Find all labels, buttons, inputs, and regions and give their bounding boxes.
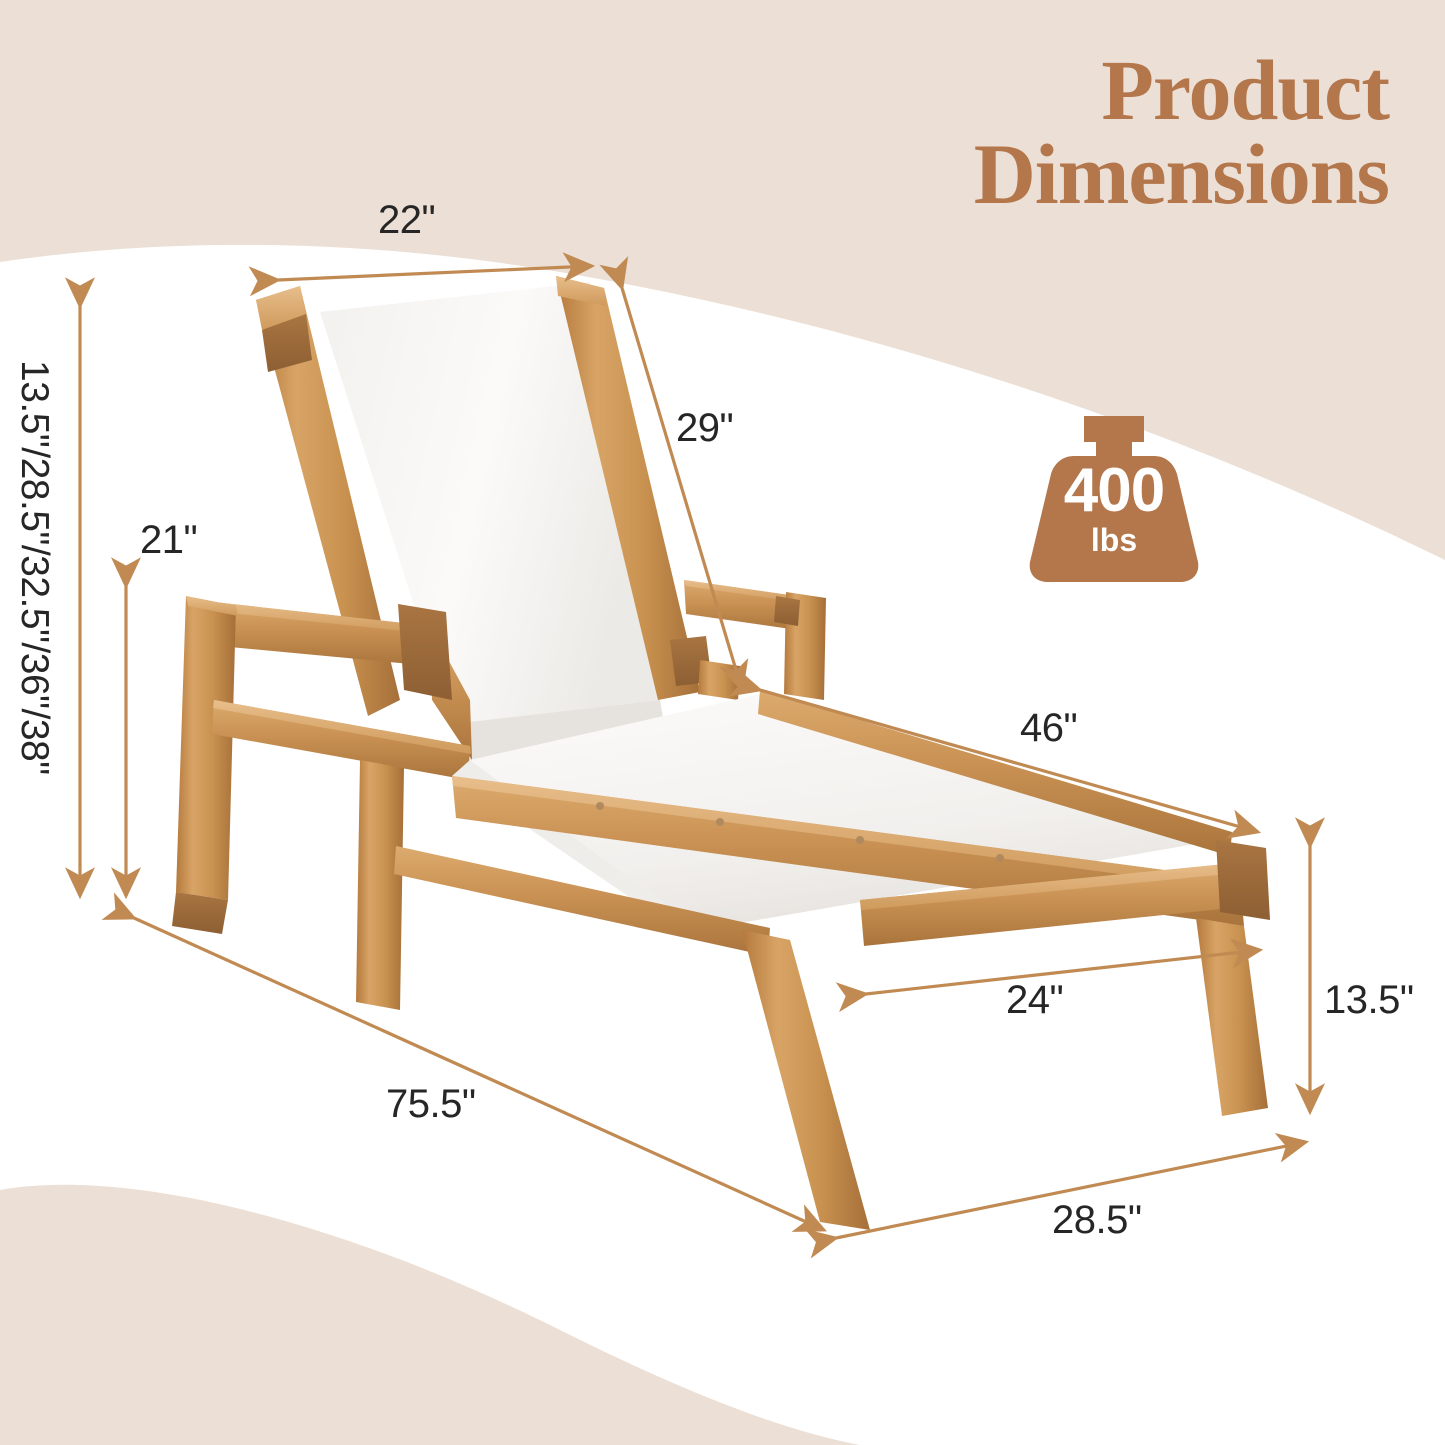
infographic-canvas: Product Dimensions 400 lbs 22" 29" 21" 1… bbox=[0, 0, 1445, 1445]
dim-label-overall-length: 75.5" bbox=[386, 1082, 476, 1127]
dim-label-backrest-height: 29" bbox=[676, 406, 733, 451]
weight-capacity-value: 400 bbox=[1026, 460, 1202, 522]
dim-label-seat-height: 13.5" bbox=[1324, 978, 1414, 1023]
title-line-1: Product bbox=[974, 48, 1389, 132]
title-line-2: Dimensions bbox=[974, 132, 1389, 216]
weight-capacity-unit: lbs bbox=[1026, 524, 1202, 556]
dim-label-overall-width: 28.5" bbox=[1052, 1198, 1142, 1243]
dim-label-foot-end-width: 24" bbox=[1006, 978, 1063, 1023]
dim-label-adjustable-heights: 13.5"/28.5"/32.5"/36"/38" bbox=[12, 360, 56, 775]
weight-capacity-badge: 400 lbs bbox=[1026, 412, 1202, 584]
dim-label-armrest-height: 21" bbox=[140, 518, 197, 563]
page-title: Product Dimensions bbox=[974, 48, 1389, 217]
dim-label-seat-length: 46" bbox=[1020, 706, 1077, 751]
dim-label-backrest-width: 22" bbox=[378, 198, 435, 243]
